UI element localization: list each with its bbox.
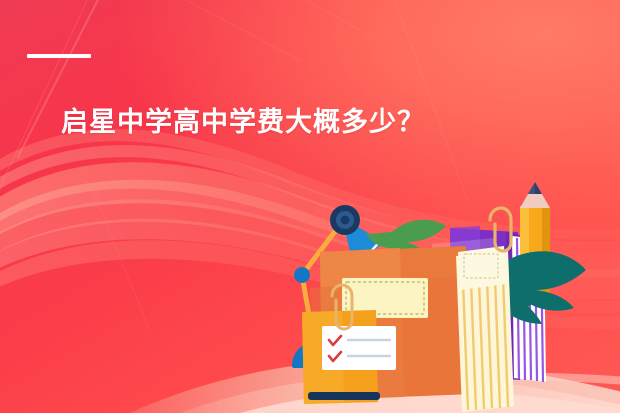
light-streak: [143, 0, 360, 31]
study-desk-illustration: [280, 180, 620, 413]
light-streak: [93, 191, 150, 330]
striped-notebook-icon: [456, 246, 514, 412]
light-streak: [385, 0, 468, 200]
accent-rule: [27, 54, 91, 58]
light-streak: [123, 0, 300, 61]
banner-root: 启星中学高中学费大概多少？: [0, 0, 620, 413]
page-title: 启星中学高中学费大概多少？: [61, 106, 425, 140]
lamp-joint-icon: [294, 267, 310, 283]
light-streak: [0, 0, 97, 189]
